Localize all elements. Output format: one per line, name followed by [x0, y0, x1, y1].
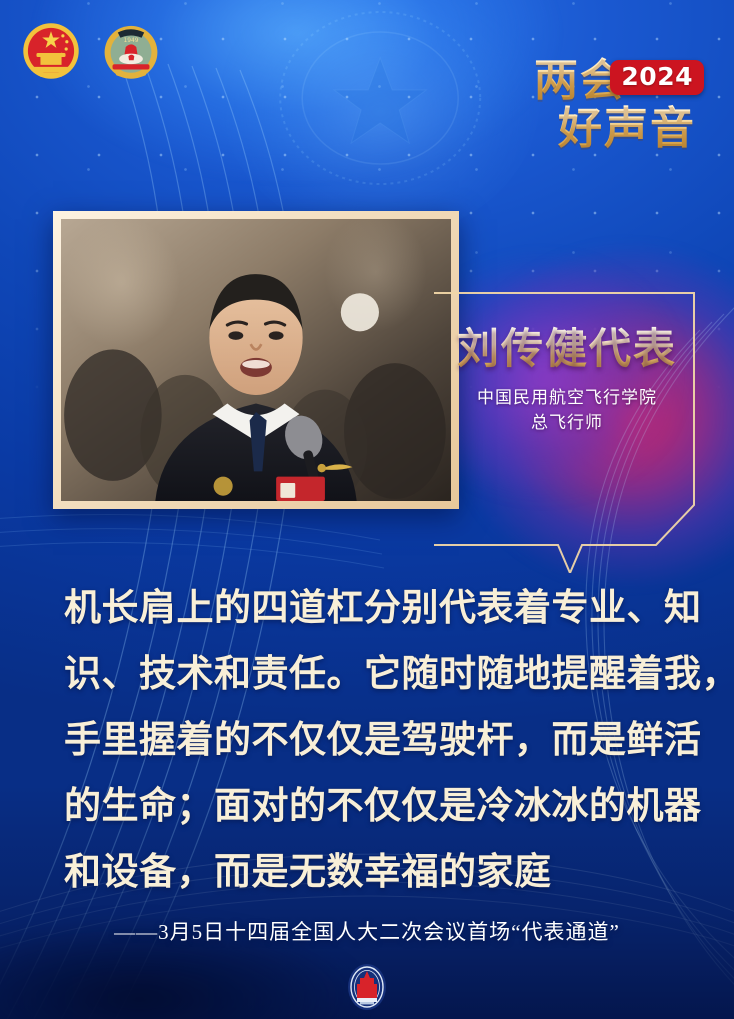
speaker-photo-frame: [53, 211, 459, 509]
speaker-name-block: 刘传健代表 中国民用航空飞行学院 总飞行师: [436, 326, 698, 435]
brand-logo: 两会 好声音 2024: [460, 28, 720, 146]
quote-block: 机长肩上的四道杠分别代表着专业、知 识、技术和责任。它随时随地提醒着我， 手里握…: [64, 575, 676, 905]
national-emblem-of-china-icon: [18, 18, 84, 84]
speaker-organization-line-1: 中国民用航空飞行学院: [436, 386, 698, 411]
quote-line: 识、技术和责任。它随时随地提醒着我，: [64, 641, 676, 707]
svg-text:1949: 1949: [123, 37, 138, 44]
publisher-emblem-icon: [344, 962, 390, 1012]
quote-line: 的生命；面对的不仅仅是冷冰冰的机器: [64, 773, 676, 839]
speaker-portrait-illustration: [61, 219, 451, 501]
quote-line: 手里握着的不仅仅是驾驶杆，而是鲜活: [64, 707, 676, 773]
year-badge-label: 2024: [621, 62, 693, 91]
cppcc-emblem-icon: 1949: [98, 18, 164, 84]
quote-line: 和设备，而是无数幸福的家庭: [64, 839, 676, 905]
brand-wordmark: 两会 好声音 2024: [516, 34, 716, 144]
speaker-name: 刘传健代表: [436, 326, 698, 372]
quote-line: 机长肩上的四道杠分别代表着专业、知: [64, 575, 676, 641]
poster-root: 1949: [0, 0, 734, 1019]
year-badge: 2024: [610, 60, 704, 95]
speaker-organization: 中国民用航空飞行学院 总飞行师: [436, 386, 698, 435]
brand-line-2: 好声音: [558, 92, 696, 156]
quote-attribution: ——3月5日十四届全国人大二次会议首场“代表通道”: [0, 916, 734, 946]
emblem-group: 1949: [18, 18, 164, 84]
speaker-photo: [61, 219, 451, 501]
speaker-organization-line-2: 总飞行师: [436, 411, 698, 436]
